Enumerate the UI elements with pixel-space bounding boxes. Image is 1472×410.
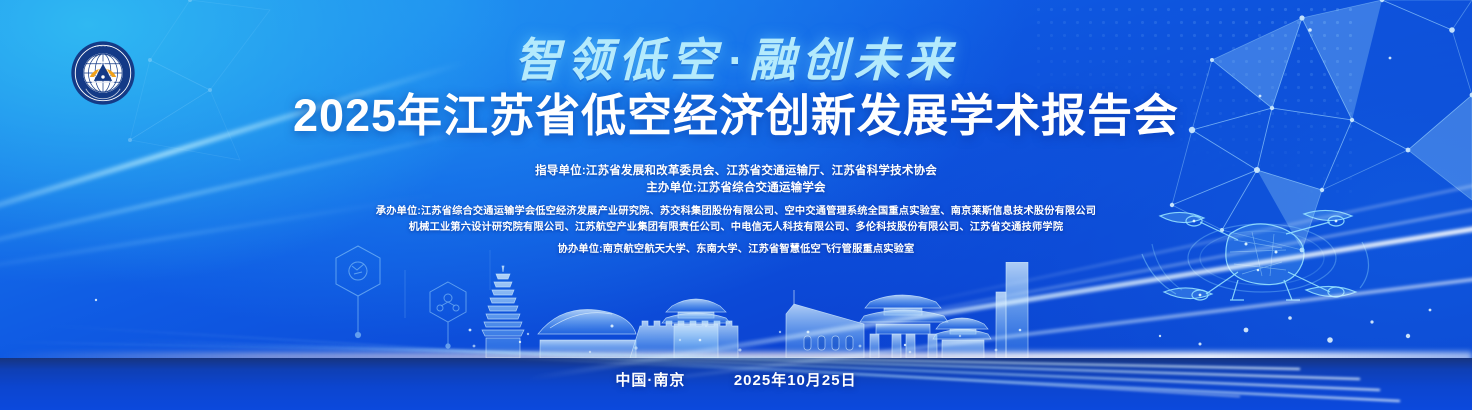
event-meta-bar: 中国·南京 2025年10月25日 <box>0 369 1472 390</box>
headline-part-1: 智领低空 <box>514 34 722 86</box>
event-date: 2025年10月25日 <box>734 369 857 390</box>
organizer-value: 江苏省发展和改革委员会、江苏省交通运输厅、江苏省科学技术协会 <box>586 165 937 177</box>
banner-text-block: 智领低空·融创未来 2025年江苏省低空经济创新发展学术报告会 <box>0 0 1472 141</box>
headline-separator: · <box>722 34 749 86</box>
organizer-value: 机械工业第六设计研究院有限公司、江苏航空产业集团有限责任公司、中电信无人科技有限… <box>409 222 1063 233</box>
page-title: 2025年江苏省低空经济创新发展学术报告会 <box>0 92 1472 141</box>
organizer-value: 江苏省综合交通运输学会低空经济发展产业研究院、苏交科集团股份有限公司、空中交通管… <box>421 206 1096 217</box>
organizer-line-organizer-cont: 机械工业第六设计研究院有限公司、江苏航空产业集团有限责任公司、中电信无人科技有限… <box>0 220 1472 236</box>
organizer-label: 承办单位: <box>376 206 421 217</box>
organizer-label: 指导单位: <box>535 165 586 177</box>
banner-headline: 智领低空·融创未来 <box>0 36 1472 84</box>
organizer-label: 协办单位: <box>558 244 603 255</box>
event-location: 中国·南京 <box>615 369 685 390</box>
conference-banner: ··············· ······················· … <box>0 0 1472 410</box>
headline-part-2: 融创未来 <box>750 34 958 86</box>
organizer-value: 江苏省综合交通运输学会 <box>697 182 826 194</box>
horizon-glow-decoration <box>0 352 1472 362</box>
organizer-value: 南京航空航天大学、东南大学、江苏省智慧低空飞行管服重点实验室 <box>603 244 915 255</box>
organizer-label: 主办单位: <box>646 182 697 194</box>
organizers-block: 指导单位:江苏省发展和改革委员会、江苏省交通运输厅、江苏省科学技术协会 主办单位… <box>0 163 1472 258</box>
organizer-line-host: 主办单位:江苏省综合交通运输学会 <box>0 180 1472 197</box>
organizer-line-coorganizer: 协办单位:南京航空航天大学、东南大学、江苏省智慧低空飞行管服重点实验室 <box>0 242 1472 258</box>
nanjing-skyline-icon <box>440 262 1040 362</box>
organizer-line-guidance: 指导单位:江苏省发展和改革委员会、江苏省交通运输厅、江苏省科学技术协会 <box>0 163 1472 180</box>
organizer-line-organizer: 承办单位:江苏省综合交通运输学会低空经济发展产业研究院、苏交科集团股份有限公司、… <box>0 204 1472 220</box>
